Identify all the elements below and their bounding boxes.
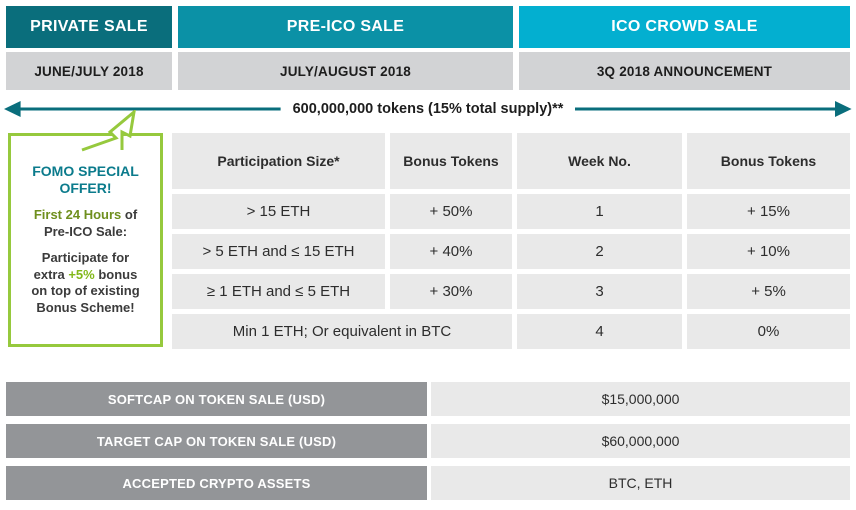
table-row: ≥ 1 ETH and ≤ 5 ETH + 30% bbox=[172, 274, 512, 309]
summary-row-target-cap: TARGET CAP ON TOKEN SALE (USD) $60,000,0… bbox=[6, 424, 850, 458]
phase-date-row: JUNE/JULY 2018 JULY/AUGUST 2018 3Q 2018 … bbox=[6, 52, 850, 90]
fomo-duration-second: Pre-ICO Sale: bbox=[44, 224, 127, 239]
fomo-body-b-pre: extra bbox=[34, 267, 69, 282]
phase-title-ico: ICO CROWD SALE bbox=[611, 18, 757, 36]
table-row: > 15 ETH + 50% bbox=[172, 194, 512, 229]
phase-date-private: JUNE/JULY 2018 bbox=[6, 52, 172, 90]
fomo-body-line: Participate for extra +5% bonus on top o… bbox=[31, 250, 139, 318]
callout-tail-icon bbox=[80, 110, 138, 152]
summary-label-softcap: SOFTCAP ON TOKEN SALE (USD) bbox=[6, 382, 427, 416]
table-row: 4 0% bbox=[517, 314, 850, 349]
phase-header-ico-crowd-sale: ICO CROWD SALE bbox=[519, 6, 850, 48]
table-header-row: Participation Size* Bonus Tokens bbox=[172, 133, 512, 189]
cell-week-no: 3 bbox=[517, 274, 682, 309]
summary-value-target-cap: $60,000,000 bbox=[431, 424, 850, 458]
cell-bonus-tokens: + 15% bbox=[687, 194, 850, 229]
phase-header-pre-ico-sale: PRE-ICO SALE bbox=[178, 6, 513, 48]
cell-week-no: 4 bbox=[517, 314, 682, 349]
summary-row-accepted-assets: ACCEPTED CRYPTO ASSETS BTC, ETH bbox=[6, 466, 850, 500]
phase-date-ico: 3Q 2018 ANNOUNCEMENT bbox=[519, 52, 850, 90]
weekly-bonus-table: Week No. Bonus Tokens 1 + 15% 2 + 10% 3 … bbox=[517, 133, 850, 349]
fomo-body-c: on top of existing bbox=[31, 283, 139, 298]
summary-row-softcap: SOFTCAP ON TOKEN SALE (USD) $15,000,000 bbox=[6, 382, 850, 416]
summary-value-accepted-assets: BTC, ETH bbox=[431, 466, 850, 500]
summary-label-target-cap: TARGET CAP ON TOKEN SALE (USD) bbox=[6, 424, 427, 458]
fomo-body-a: Participate for bbox=[42, 250, 129, 265]
cell-bonus-tokens: + 30% bbox=[390, 274, 512, 309]
phase-date-private-label: JUNE/JULY 2018 bbox=[34, 64, 143, 79]
phase-header-private-sale: PRIVATE SALE bbox=[6, 6, 172, 48]
column-header-participation-size: Participation Size* bbox=[172, 133, 385, 189]
table-row: 2 + 10% bbox=[517, 234, 850, 269]
cell-bonus-tokens: + 10% bbox=[687, 234, 850, 269]
fomo-special-offer-callout: FOMO SPECIAL OFFER! First 24 Hours of Pr… bbox=[8, 133, 163, 347]
cell-participation-size: > 5 ETH and ≤ 15 ETH bbox=[172, 234, 385, 269]
cell-bonus-tokens: + 5% bbox=[687, 274, 850, 309]
participation-bonus-table: Participation Size* Bonus Tokens > 15 ET… bbox=[172, 133, 512, 349]
fomo-body-b-highlight: +5% bbox=[68, 267, 94, 282]
table-footer-row: Min 1 ETH; Or equivalent in BTC bbox=[172, 314, 512, 349]
cell-week-no: 1 bbox=[517, 194, 682, 229]
fomo-duration-line: First 24 Hours of Pre-ICO Sale: bbox=[34, 207, 137, 241]
arrow-right-icon bbox=[575, 96, 852, 122]
summary-label-accepted-assets: ACCEPTED CRYPTO ASSETS bbox=[6, 466, 427, 500]
cell-participation-size: > 15 ETH bbox=[172, 194, 385, 229]
column-header-bonus-tokens-left: Bonus Tokens bbox=[390, 133, 512, 189]
summary-value-softcap: $15,000,000 bbox=[431, 382, 850, 416]
table-row: > 5 ETH and ≤ 15 ETH + 40% bbox=[172, 234, 512, 269]
column-header-week-no: Week No. bbox=[517, 133, 682, 189]
table-row: 1 + 15% bbox=[517, 194, 850, 229]
phase-header-row: PRIVATE SALE PRE-ICO SALE ICO CROWD SALE bbox=[6, 6, 850, 48]
fomo-duration-rest: of bbox=[121, 207, 137, 222]
cell-bonus-tokens: 0% bbox=[687, 314, 850, 349]
cell-bonus-tokens: + 50% bbox=[390, 194, 512, 229]
cell-week-no: 2 bbox=[517, 234, 682, 269]
fomo-title-line2: OFFER! bbox=[59, 180, 111, 196]
phase-title-preico: PRE-ICO SALE bbox=[287, 18, 404, 36]
total-supply-label: 600,000,000 tokens (15% total supply)** bbox=[281, 101, 576, 117]
phase-date-ico-label: 3Q 2018 ANNOUNCEMENT bbox=[597, 64, 772, 79]
arrow-left-icon bbox=[4, 96, 281, 122]
fomo-body-d: Bonus Scheme! bbox=[36, 300, 134, 315]
table-row: 3 + 5% bbox=[517, 274, 850, 309]
phase-title-private: PRIVATE SALE bbox=[30, 18, 148, 36]
fomo-title-line1: FOMO SPECIAL bbox=[32, 163, 139, 179]
fomo-body-b-post: bonus bbox=[95, 267, 138, 282]
fomo-duration-highlight: First 24 Hours bbox=[34, 207, 121, 222]
token-sale-summary: SOFTCAP ON TOKEN SALE (USD) $15,000,000 … bbox=[6, 382, 850, 500]
cell-minimum-contribution: Min 1 ETH; Or equivalent in BTC bbox=[172, 314, 512, 349]
fomo-title: FOMO SPECIAL OFFER! bbox=[32, 163, 139, 198]
table-header-row: Week No. Bonus Tokens bbox=[517, 133, 850, 189]
phase-date-preico-label: JULY/AUGUST 2018 bbox=[280, 64, 411, 79]
cell-bonus-tokens: + 40% bbox=[390, 234, 512, 269]
cell-participation-size: ≥ 1 ETH and ≤ 5 ETH bbox=[172, 274, 385, 309]
column-header-bonus-tokens-right: Bonus Tokens bbox=[687, 133, 850, 189]
phase-date-preico: JULY/AUGUST 2018 bbox=[178, 52, 513, 90]
